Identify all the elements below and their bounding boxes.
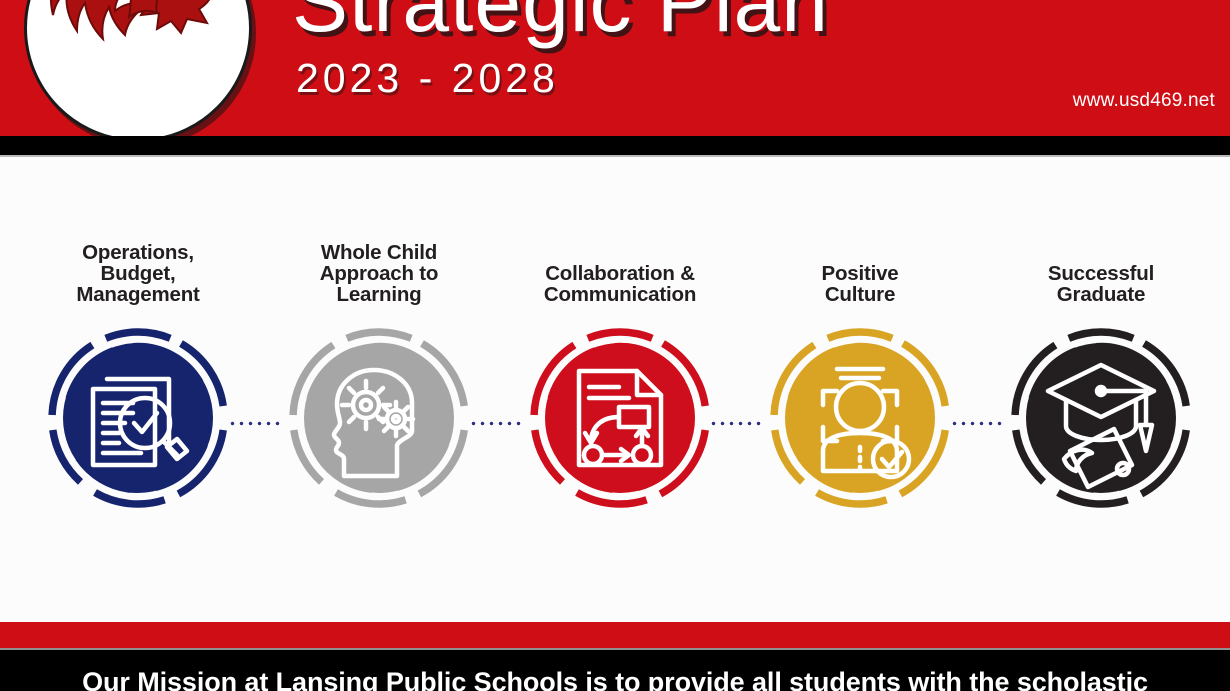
pillar-row: Operations,Budget,Management Whole Child…	[0, 157, 1230, 622]
document-flowchart-icon	[545, 343, 695, 493]
pillar-label-line: Communication	[500, 284, 740, 305]
pillar-label-line: Learning	[259, 284, 499, 305]
pillar-icon-circle[interactable]	[525, 323, 715, 513]
pillar-label-line: Approach to	[259, 263, 499, 284]
pillar-connector-2	[469, 421, 521, 426]
mission-statement: Our Mission at Lansing Public Schools is…	[0, 666, 1230, 691]
header-banner: Strategic Plan 2023 - 2028 www.usd469.ne…	[0, 0, 1230, 136]
pillar-label-line: Positive	[740, 263, 980, 284]
footer-red-stripe	[0, 622, 1230, 648]
pillar-connector-1	[228, 421, 280, 426]
pillar-icon-circle[interactable]	[43, 323, 233, 513]
pillar-icon-circle[interactable]	[1006, 323, 1196, 513]
pillar-connector-4	[950, 421, 1002, 426]
person-focus-verified-icon	[785, 343, 935, 493]
footer-mission-bar: Our Mission at Lansing Public Schools is…	[0, 650, 1230, 691]
pillar-label: Collaboration &Communication	[500, 263, 740, 305]
pillar-1[interactable]: Operations,Budget,Management	[18, 157, 258, 622]
pillar-label: Whole ChildApproach toLearning	[259, 242, 499, 305]
graduation-cap-diploma-icon	[1026, 343, 1176, 493]
pillar-4[interactable]: PositiveCulture	[740, 157, 980, 622]
pillar-label-line: Graduate	[981, 284, 1221, 305]
pillar-label: SuccessfulGraduate	[981, 263, 1221, 305]
lion-mascot-logo-icon	[45, 0, 237, 81]
pillar-icon-circle[interactable]	[765, 323, 955, 513]
pillar-label: Operations,Budget,Management	[18, 242, 258, 305]
pillar-label-line: Budget,	[18, 263, 258, 284]
header-divider-band	[0, 136, 1230, 155]
pillar-label-line: Collaboration &	[500, 263, 740, 284]
pillar-label-line: Whole Child	[259, 242, 499, 263]
pillar-label: PositiveCulture	[740, 263, 980, 305]
pillar-connector-3	[709, 421, 762, 426]
pillar-label-line: Culture	[740, 284, 980, 305]
document-magnifier-check-icon	[63, 343, 213, 493]
pillar-3[interactable]: Collaboration &Communication	[500, 157, 740, 622]
pillar-label-line: Operations,	[18, 242, 258, 263]
title-block: Strategic Plan 2023 - 2028	[292, 0, 829, 100]
head-gears-icon	[304, 343, 454, 493]
logo-circle-background	[24, 0, 252, 136]
district-website-link[interactable]: www.usd469.net	[1073, 90, 1215, 112]
pillar-label-line: Management	[18, 284, 258, 305]
plan-years: 2023 - 2028	[296, 56, 829, 100]
pillar-label-line: Successful	[981, 263, 1221, 284]
pillar-2[interactable]: Whole ChildApproach toLearning	[259, 157, 499, 622]
page-title: Strategic Plan	[292, 0, 829, 48]
district-logo	[24, 0, 252, 136]
pillars-section: Operations,Budget,Management Whole Child…	[0, 157, 1230, 622]
pillar-icon-circle[interactable]	[284, 323, 474, 513]
pillar-5[interactable]: SuccessfulGraduate	[981, 157, 1221, 622]
